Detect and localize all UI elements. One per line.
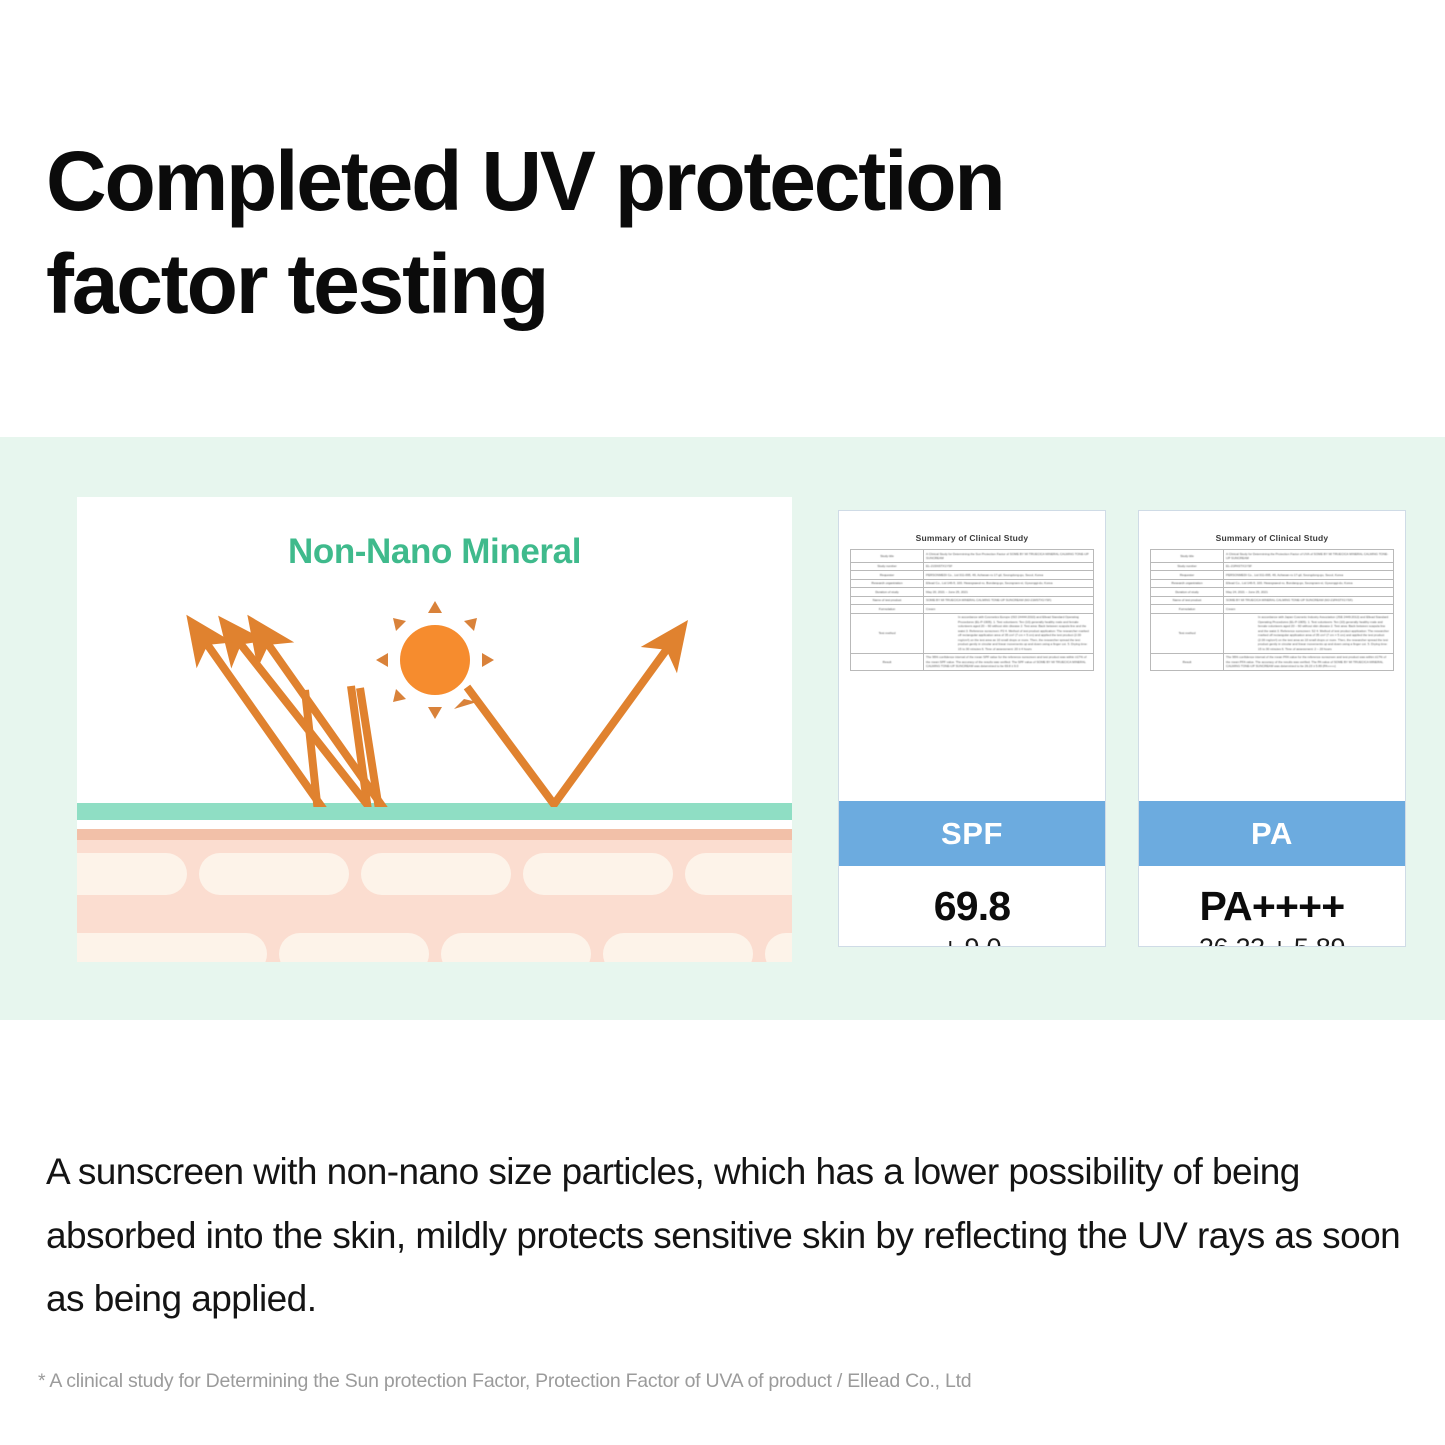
pa-value: PA++++ [1139, 884, 1405, 928]
table-row: Study numberEL-21PASTX1YSF [1151, 562, 1394, 570]
spf-band-label: SPF [941, 816, 1003, 852]
ray-right [467, 642, 672, 803]
table-row: RequesterPERSONMEDI Co., Ltd 011-095, 49… [851, 571, 1094, 579]
table-row: Research organizationEllead Co., Ltd 146… [1151, 579, 1394, 587]
table-row: Study titleA Clinical Study for Determin… [1151, 550, 1394, 563]
clinical-study-document-spf: Summary of Clinical Study Study titleA C… [839, 511, 1105, 811]
table-row: Duration of studyMay 20, 2021 – June 25,… [851, 588, 1094, 596]
footnote: * A clinical study for Determining the S… [38, 1368, 1418, 1395]
feature-panel: Non-Nano Mineral [0, 437, 1445, 1020]
table-row: ResultThe 95% confidence interval of the… [1151, 653, 1394, 670]
table-row: ResultThe 95% confidence interval of the… [851, 653, 1094, 670]
table-row: Test methodIn accordance with Cosmetics … [851, 613, 1094, 653]
table-row: Research organizationEllead Co., Ltd 146… [851, 579, 1094, 587]
document-heading: Summary of Clinical Study [1150, 533, 1394, 543]
result-card-spf: Summary of Clinical Study Study titleA C… [838, 510, 1106, 947]
uv-reflection-illustration: Non-Nano Mineral [77, 497, 792, 962]
spf-value: 69.8 [839, 884, 1105, 928]
page-title: Completed UV protection factor testing [46, 130, 1416, 335]
clinical-study-document-pa: Summary of Clinical Study Study titleA C… [1139, 511, 1405, 811]
spf-values: 69.8 ± 9.0 [839, 866, 1105, 946]
ray-left-inner [263, 637, 380, 803]
table-row: RequesterPERSONMEDI Co., Ltd 011-095, 49… [1151, 571, 1394, 579]
spf-deviation: ± 9.0 [839, 933, 1105, 947]
result-card-pa: Summary of Clinical Study Study titleA C… [1138, 510, 1406, 947]
skin-surface-band [77, 803, 792, 820]
table-row: Test methodIn accordance with Japan Cosm… [1151, 613, 1394, 653]
body-paragraph: A sunscreen with non-nano size particles… [46, 1140, 1406, 1331]
table-row: Study numberEL-21SNSTX1YSF [851, 562, 1094, 570]
pa-values: PA++++ 26.23 ± 5.89 [1139, 866, 1405, 946]
pa-band: PA [1139, 801, 1405, 866]
document-table: Study titleA Clinical Study for Determin… [850, 549, 1094, 671]
pa-band-label: PA [1251, 816, 1293, 852]
document-heading: Summary of Clinical Study [850, 533, 1094, 543]
table-row: Name of test productSOME BY MI TRUECICA … [1151, 596, 1394, 604]
illustration-graphic [77, 497, 792, 962]
pa-deviation: 26.23 ± 5.89 [1139, 933, 1405, 947]
skin-layers [77, 803, 792, 962]
table-row: Name of test productSOME BY MI TRUECICA … [851, 596, 1094, 604]
table-row: Study titleA Clinical Study for Determin… [851, 550, 1094, 563]
table-row: FormulationCream [1151, 605, 1394, 613]
document-table: Study titleA Clinical Study for Determin… [1150, 549, 1394, 671]
skin-stripe [77, 829, 792, 840]
table-row: FormulationCream [851, 605, 1094, 613]
table-row: Duration of studyMay 24, 2021 – June 25,… [1151, 588, 1394, 596]
spf-band: SPF [839, 801, 1105, 866]
